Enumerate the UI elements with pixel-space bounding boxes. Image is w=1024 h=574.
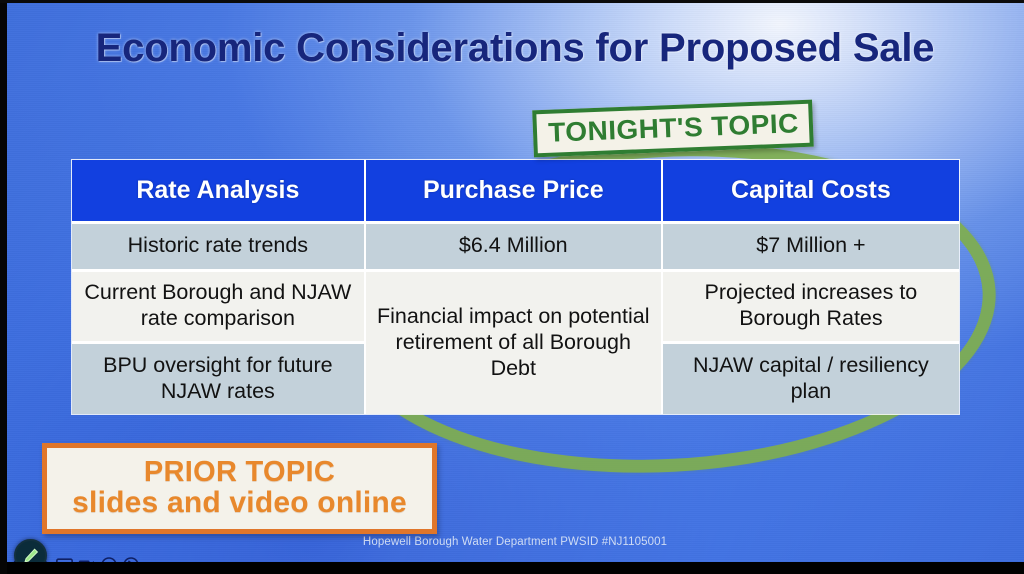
- presentation-slide: Economic Considerations for Proposed Sal…: [6, 2, 1024, 562]
- table-row: Historic rate trends $6.4 Million $7 Mil…: [72, 222, 959, 270]
- prior-topic-label-line1: PRIOR TOPIC: [144, 458, 335, 488]
- table-header-row: Rate Analysis Purchase Price Capital Cos…: [72, 160, 959, 222]
- slide-title: Economic Considerations for Proposed Sal…: [6, 26, 1024, 71]
- slide-footer: Hopewell Borough Water Department PWSID …: [6, 536, 1024, 548]
- table-cell-capital-costs-1: $7 Million +: [662, 222, 959, 270]
- table-cell-rate-analysis-2: Current Borough and NJAW rate comparison: [72, 270, 365, 342]
- table-cell-rate-analysis-3: BPU oversight for future NJAW rates: [72, 342, 365, 414]
- tonights-topic-label: TONIGHT'S TOPIC: [547, 108, 799, 149]
- closed-caption-icon[interactable]: CC: [56, 557, 73, 563]
- table-cell-capital-costs-3: NJAW capital / resiliency plan: [662, 342, 959, 414]
- screen: Economic Considerations for Proposed Sal…: [0, 0, 1024, 574]
- screen-bezel-left: [0, 0, 7, 574]
- screen-bezel-top: [0, 0, 1024, 3]
- table-cell-purchase-price-2-merged: Financial impact on potential retirement…: [365, 270, 662, 414]
- more-options-icon[interactable]: [100, 557, 117, 563]
- comparison-table-container: Rate Analysis Purchase Price Capital Cos…: [71, 159, 960, 415]
- prior-topic-callout: PRIOR TOPIC slides and video online: [42, 443, 437, 534]
- table-cell-purchase-price-1: $6.4 Million: [365, 222, 662, 270]
- svg-text:CC: CC: [59, 561, 70, 562]
- video-camera-icon[interactable]: [78, 557, 95, 563]
- table-header-purchase-price: Purchase Price: [365, 160, 662, 222]
- table-header-rate-analysis: Rate Analysis: [72, 160, 365, 222]
- table-header-capital-costs: Capital Costs: [662, 160, 959, 222]
- forward-arrow-icon[interactable]: [122, 557, 139, 563]
- table-cell-capital-costs-2: Projected increases to Borough Rates: [662, 270, 959, 342]
- prior-topic-label-line2: slides and video online: [72, 488, 407, 519]
- table-row: Current Borough and NJAW rate comparison…: [72, 270, 959, 342]
- comparison-table: Rate Analysis Purchase Price Capital Cos…: [72, 160, 959, 414]
- table-cell-rate-analysis-1: Historic rate trends: [72, 222, 365, 270]
